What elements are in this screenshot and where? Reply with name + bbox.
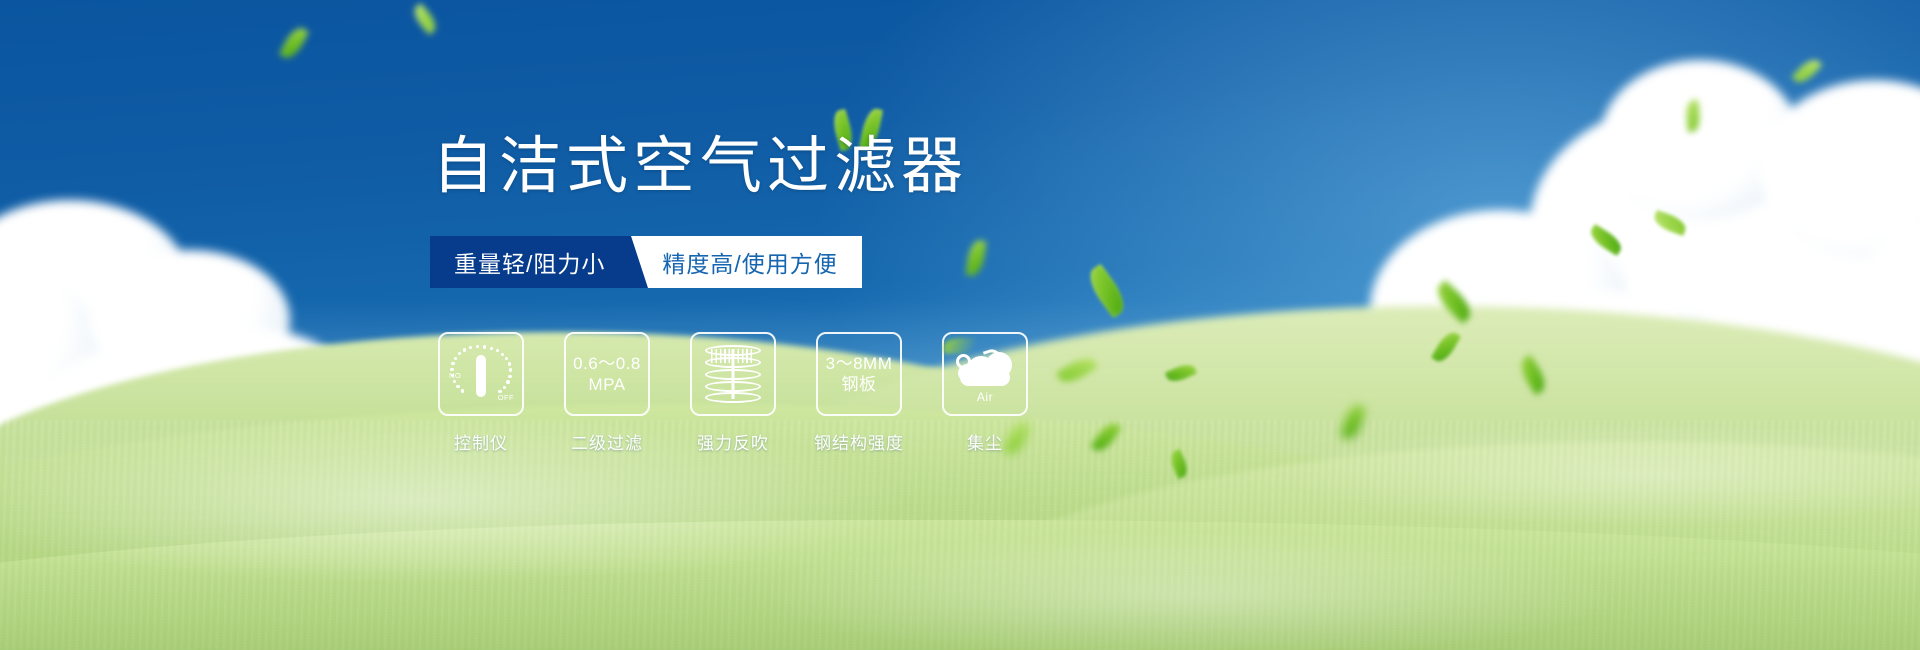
green-ray-accent: [944, 338, 978, 354]
air-label: Air: [954, 390, 1016, 404]
feature-label: 控制仪: [454, 429, 508, 454]
feature-item-steel: 3～8MM 钢板 钢结构强度: [816, 332, 902, 454]
feature-label: 集尘: [967, 429, 1003, 454]
feature-box-dust: Air: [942, 332, 1028, 416]
feature-item-dust: Air 集尘: [942, 332, 1028, 454]
feature-item-control: NO OFF 控制仪: [438, 332, 524, 454]
feature-box-filtration: 0.6～0.8 MPA: [564, 332, 650, 416]
gauge-needle: [476, 355, 486, 397]
feature-label: 强力反吹: [697, 429, 769, 454]
feature-box-blowback: [690, 332, 776, 416]
pressure-text-icon-line2: MPA: [588, 374, 625, 395]
promo-banner: 自洁式空气过滤器 重量轻/阻力小 精度高/使用方便: [0, 0, 1920, 650]
feature-box-control: NO OFF: [438, 332, 524, 416]
feature-box-steel: 3～8MM 钢板: [816, 332, 902, 416]
feature-list: NO OFF 控制仪 0.6～0.8 MPA 二级过滤: [438, 332, 1028, 454]
steel-plate-text-icon-line1: 3～8MM: [826, 353, 893, 374]
banner-content: 自洁式空气过滤器 重量轻/阻力小 精度高/使用方便: [0, 0, 1920, 650]
air-cloud-icon: Air: [954, 346, 1016, 402]
gauge-label-on: NO: [449, 371, 461, 380]
tagline-secondary: 精度高/使用方便: [630, 236, 861, 288]
tagline-group: 重量轻/阻力小 精度高/使用方便: [430, 236, 862, 288]
gauge-label-off: OFF: [498, 393, 514, 402]
feature-label: 钢结构强度: [814, 429, 904, 454]
pressure-text-icon-line1: 0.6～0.8: [573, 353, 641, 374]
tagline-primary: 重量轻/阻力小: [430, 236, 631, 288]
steel-plate-text-icon-line2: 钢板: [842, 374, 877, 395]
page-title: 自洁式空气过滤器: [432, 136, 968, 198]
coil-blowback-icon: [705, 345, 761, 403]
gauge-dial-icon: NO OFF: [450, 344, 512, 404]
feature-item-filtration: 0.6～0.8 MPA 二级过滤: [564, 332, 650, 454]
feature-label: 二级过滤: [571, 429, 643, 454]
feature-item-blowback: 强力反吹: [690, 332, 776, 454]
